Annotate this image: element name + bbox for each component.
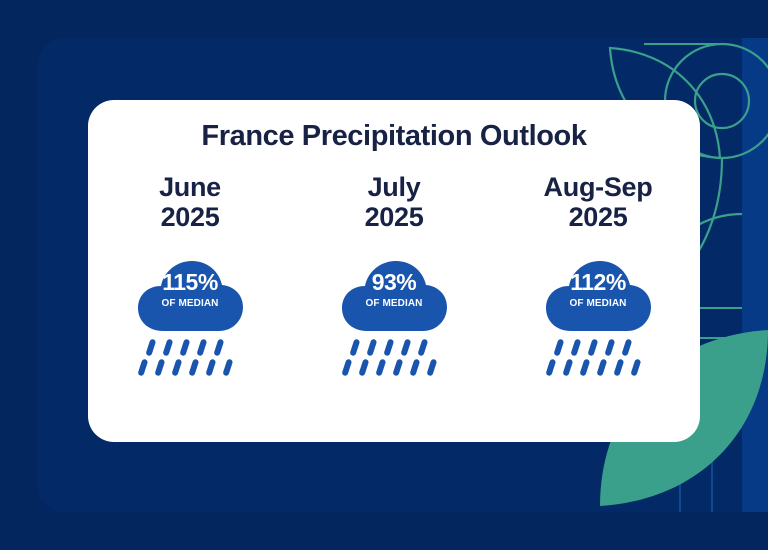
rain-cloud-icon: 112% OF MEDIAN <box>538 253 658 383</box>
cloud-shape <box>546 261 651 331</box>
period-year: 2025 <box>365 203 424 231</box>
rain-cloud-icon: 115% OF MEDIAN <box>130 253 250 383</box>
period-year: 2025 <box>569 203 628 231</box>
period-columns: June 2025 <box>88 174 700 383</box>
page-title: France Precipitation Outlook <box>88 120 700 153</box>
period-column-july: July 2025 <box>292 174 496 383</box>
outlook-card: France Precipitation Outlook June 2025 <box>88 100 700 442</box>
infographic-canvas: France Precipitation Outlook June 2025 <box>0 0 768 550</box>
period-name: Aug-Sep <box>544 174 653 201</box>
raindrops-group <box>137 339 233 377</box>
period-year: 2025 <box>161 203 220 231</box>
period-column-june: June 2025 <box>88 174 292 383</box>
raindrops-group <box>341 339 437 377</box>
period-column-aug-sep: Aug-Sep 2025 <box>496 174 700 383</box>
period-name: July <box>368 174 421 201</box>
raindrops-group <box>545 339 641 377</box>
period-name: June <box>159 174 221 201</box>
cloud-shape <box>138 261 243 331</box>
rain-cloud-icon: 93% OF MEDIAN <box>334 253 454 383</box>
cloud-shape <box>342 261 447 331</box>
